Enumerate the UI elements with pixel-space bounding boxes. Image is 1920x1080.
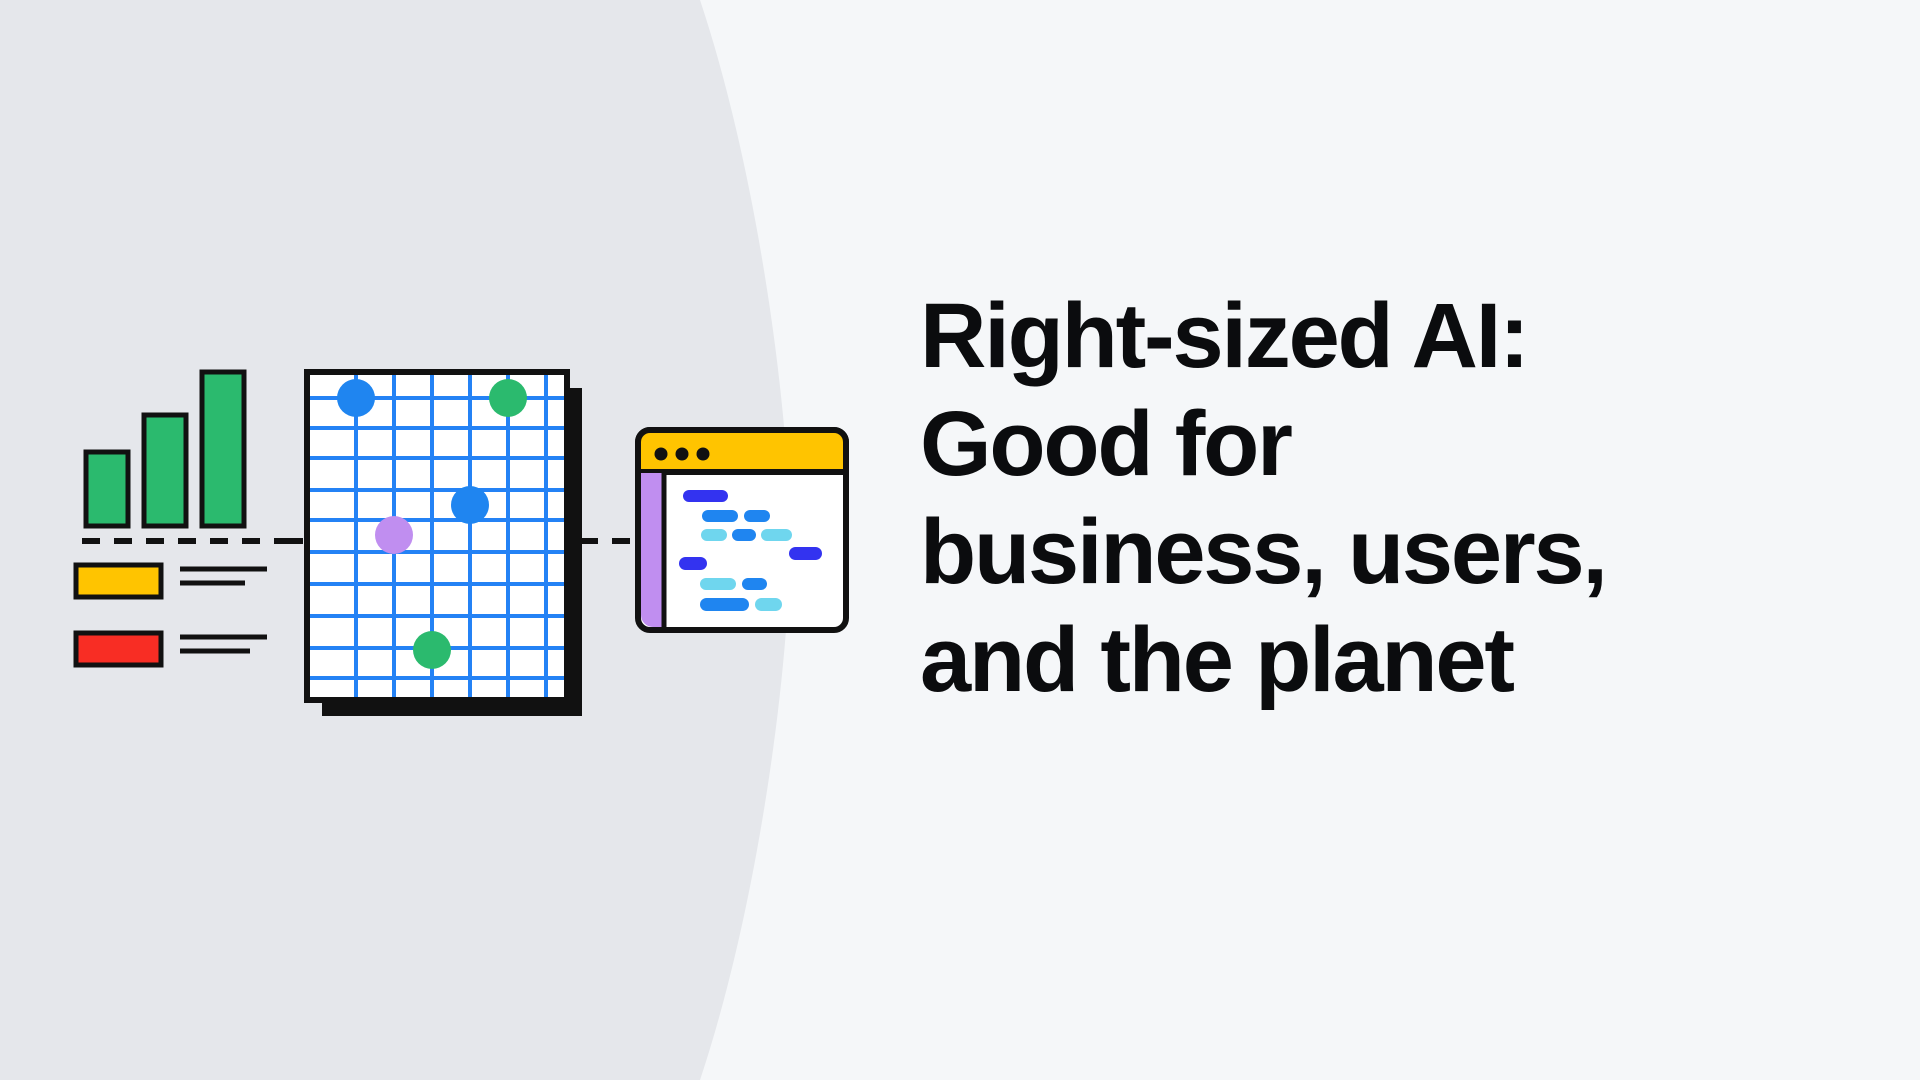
legend-swatch-yellow [76,565,161,597]
code-pill [761,529,792,541]
page-root: Right-sized AI: Good for business, users… [0,0,1920,1080]
code-pill [789,547,822,560]
point-purple-1 [375,516,413,554]
title-line-3: business, users, [920,498,1820,606]
title-line-2: Good for [920,390,1820,498]
code-pill [755,598,782,611]
code-pill [683,490,728,502]
bar-1 [86,452,128,526]
window-sidebar [641,473,663,627]
bar-3 [202,372,244,526]
code-pill [701,529,727,541]
point-blue-1 [337,379,375,417]
code-pill [742,578,767,590]
bar-chart-group [86,372,244,526]
code-pill [700,598,749,611]
scatter-plot-card [307,372,582,716]
bar-2 [144,415,186,526]
point-blue-2 [451,486,489,524]
window-titlebar [638,430,846,472]
window-dot-1[interactable] [655,448,668,461]
code-browser-window [638,430,846,630]
window-dot-2[interactable] [676,448,689,461]
code-pill [700,578,736,590]
legend-item-red [76,633,267,665]
point-green-1 [489,379,527,417]
code-pill [744,510,770,522]
window-dot-3[interactable] [697,448,710,461]
code-pill [732,529,756,541]
legend-item-yellow [76,565,267,597]
title-line-4: and the planet [920,606,1820,714]
page-title: Right-sized AI: Good for business, users… [920,282,1820,714]
code-pill [702,510,738,522]
point-green-2 [413,631,451,669]
code-pill [679,557,707,570]
ai-analytics-illustration [0,0,880,1080]
legend-swatch-red [76,633,161,665]
title-line-1: Right-sized AI: [920,282,1820,390]
